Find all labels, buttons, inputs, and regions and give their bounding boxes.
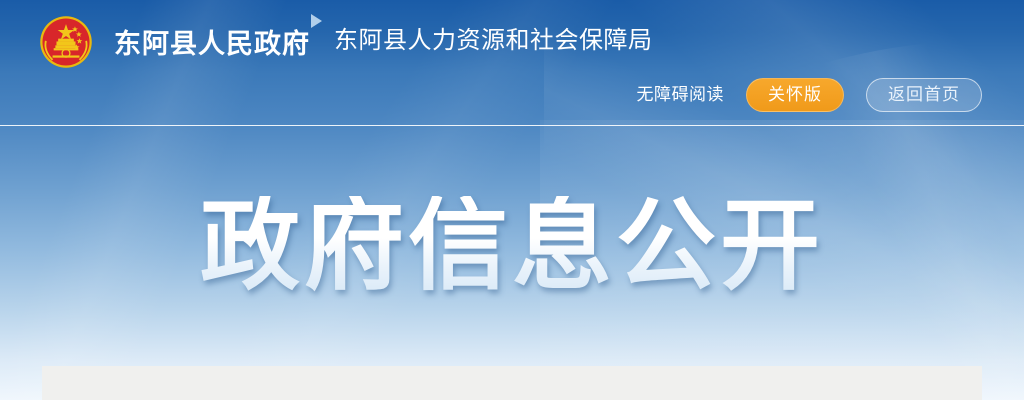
government-title: 东阿县人民政府 [114,27,310,58]
utility-bar: 无障碍阅读 关怀版 返回首页 [637,78,983,112]
return-home-button[interactable]: 返回首页 [866,78,982,112]
triangle-right-icon [311,14,322,28]
brand-block[interactable]: 东阿县人民政府 [38,14,310,70]
content-panel [42,366,982,400]
accessibility-reading-link[interactable]: 无障碍阅读 [637,87,725,104]
site-header: 东阿县人民政府 东阿县人力资源和社会保障局 无障碍阅读 关怀版 返回首页 [0,0,1024,126]
page-title: 政府信息公开 [200,196,824,296]
hero-banner: 政府信息公开 [0,196,1024,296]
page-root: 东阿县人民政府 东阿县人力资源和社会保障局 无障碍阅读 关怀版 返回首页 政府信… [0,0,1024,400]
care-version-button[interactable]: 关怀版 [746,78,844,112]
department-title: 东阿县人力资源和社会保障局 [334,28,653,52]
header-divider [0,125,1024,126]
national-emblem-icon [38,14,94,70]
